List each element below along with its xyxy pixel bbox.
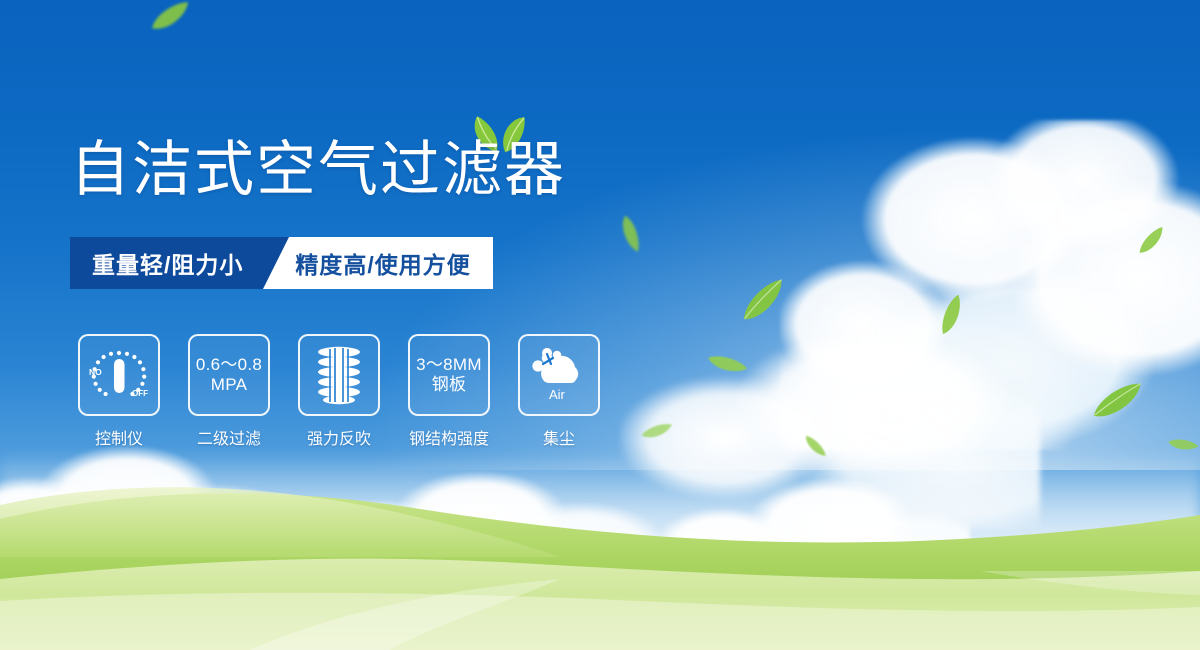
leaf-icon: [617, 213, 643, 256]
control-dial-icon: NO OFF: [78, 334, 160, 416]
pressure-text-icon: 0.6～0.8 MPA: [188, 334, 270, 416]
svg-text:NO: NO: [89, 367, 102, 377]
steel-plate-text-icon: 3～8MM 钢板: [408, 334, 490, 416]
filter-cartridge-icon: [298, 334, 380, 416]
feature-caption: 集尘: [543, 425, 575, 449]
pressure-value-line1: 0.6～0.8: [196, 355, 262, 375]
feature-caption: 控制仪: [95, 425, 143, 449]
feature-item[interactable]: 3～8MM 钢板 钢结构强度: [408, 334, 490, 449]
grass-field: [0, 475, 1200, 650]
feature-item[interactable]: Air 集尘: [518, 334, 600, 449]
dust-cloud-icon: Air: [518, 334, 600, 416]
subtitle-divider-wedge: [263, 237, 289, 289]
feature-item[interactable]: 强力反吹: [298, 334, 380, 449]
steel-value-line1: 3～8MM: [416, 355, 482, 375]
steel-value-line2: 钢板: [416, 375, 482, 395]
feature-caption: 二级过滤: [197, 425, 261, 449]
promo-banner: 自洁式空气过滤器 重量轻/阻力小 精度高/使用方便: [0, 0, 1200, 650]
feature-item[interactable]: 0.6～0.8 MPA 二级过滤: [188, 334, 270, 449]
subtitle-badge-group: 重量轻/阻力小 精度高/使用方便: [70, 237, 493, 289]
subtitle-badge-secondary: 精度高/使用方便: [289, 237, 492, 289]
leaf-icon: [146, 0, 197, 38]
feature-list: NO OFF 控制仪 0.6～0.8 MPA 二级过滤: [78, 334, 600, 449]
air-label: Air: [549, 387, 566, 402]
pressure-value-line2: MPA: [196, 375, 262, 395]
page-title: 自洁式空气过滤器: [70, 140, 566, 200]
svg-text:OFF: OFF: [132, 389, 148, 398]
feature-caption: 强力反吹: [307, 425, 371, 449]
subtitle-badge-primary: 重量轻/阻力小: [70, 237, 263, 289]
feature-caption: 钢结构强度: [409, 425, 489, 449]
feature-item[interactable]: NO OFF 控制仪: [78, 334, 160, 449]
